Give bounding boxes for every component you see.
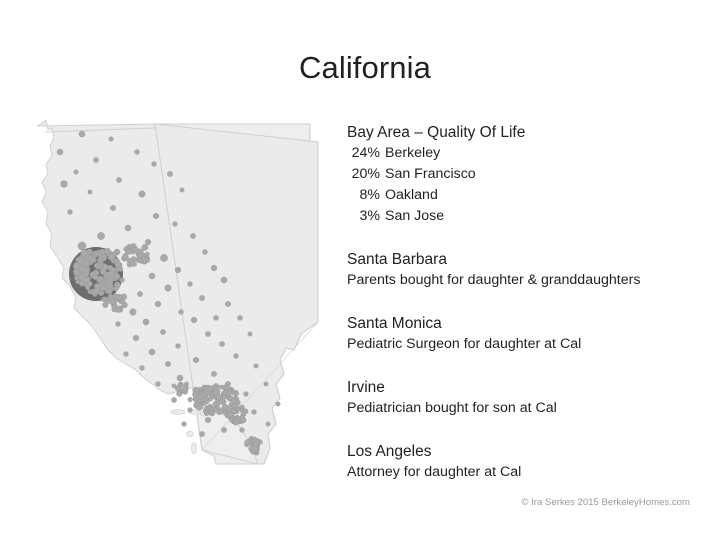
map-dot bbox=[253, 441, 259, 447]
map-dot bbox=[203, 409, 208, 414]
map-dot bbox=[114, 286, 119, 291]
map-dot bbox=[160, 329, 165, 334]
map-dot bbox=[145, 239, 151, 245]
map-dot bbox=[93, 288, 99, 294]
section-heading: Santa Barbara bbox=[347, 249, 695, 270]
map-dot bbox=[173, 222, 178, 227]
section-note: Parents bought for daughter & granddaugh… bbox=[347, 270, 695, 291]
section-heading: Bay Area – Quality Of Life bbox=[347, 122, 695, 143]
map-dot bbox=[235, 406, 240, 411]
map-dot bbox=[199, 431, 204, 436]
map-dot bbox=[245, 439, 251, 445]
map-dot bbox=[199, 295, 204, 300]
content-section: Santa BarbaraParents bought for daughter… bbox=[347, 249, 695, 291]
percent-value: 3% bbox=[347, 206, 380, 227]
percent-city-name: San Francisco bbox=[380, 166, 476, 182]
map-dot bbox=[221, 277, 227, 283]
map-dot bbox=[155, 301, 161, 307]
map-dot bbox=[190, 233, 195, 238]
map-dot bbox=[188, 397, 193, 402]
percent-row: 8%Oakland bbox=[347, 185, 695, 206]
map-dot bbox=[130, 309, 136, 315]
map-dot bbox=[104, 248, 110, 254]
map-dot bbox=[266, 422, 270, 426]
map-dot bbox=[124, 352, 129, 357]
page-title: California bbox=[299, 50, 431, 86]
map-dot bbox=[156, 382, 161, 387]
content-column: Bay Area – Quality Of Life24%Berkeley20%… bbox=[347, 122, 695, 483]
map-dot bbox=[145, 252, 149, 256]
map-dot bbox=[160, 254, 167, 261]
section-heading: Irvine bbox=[347, 377, 695, 398]
map-dot bbox=[68, 210, 73, 215]
map-dot bbox=[165, 285, 171, 291]
slide-canvas: California bbox=[0, 0, 720, 540]
map-dot bbox=[140, 366, 145, 371]
percent-city-name: Berkeley bbox=[380, 145, 440, 161]
map-dot bbox=[73, 269, 79, 275]
map-dot bbox=[102, 264, 108, 270]
map-dot bbox=[78, 242, 86, 250]
map-dot bbox=[203, 385, 208, 390]
map-dot bbox=[98, 259, 102, 263]
map-dot bbox=[83, 268, 88, 273]
map-dot bbox=[117, 295, 123, 301]
map-dot bbox=[57, 149, 63, 155]
map-dot bbox=[109, 299, 114, 304]
map-dot bbox=[248, 332, 252, 336]
content-section: IrvinePediatrician bought for son at Cal bbox=[347, 377, 695, 419]
map-dot bbox=[93, 275, 98, 280]
map-dot bbox=[93, 157, 98, 162]
map-dot bbox=[127, 244, 132, 249]
percent-row: 20%San Francisco bbox=[347, 164, 695, 185]
map-dot bbox=[108, 271, 115, 278]
map-dot bbox=[133, 335, 139, 341]
map-dot bbox=[86, 255, 92, 261]
map-dot bbox=[219, 341, 224, 346]
map-dot bbox=[110, 205, 115, 210]
map-dot bbox=[220, 399, 226, 405]
map-dot bbox=[203, 393, 207, 397]
section-heading: Los Angeles bbox=[347, 441, 695, 462]
map-dot bbox=[240, 428, 245, 433]
map-dot bbox=[196, 404, 203, 411]
map-dot bbox=[227, 406, 233, 412]
map-dot bbox=[61, 181, 68, 188]
map-dot bbox=[209, 411, 215, 417]
map-dot bbox=[101, 285, 106, 290]
map-dot bbox=[92, 254, 96, 258]
percent-row: 3%San Jose bbox=[347, 206, 695, 227]
map-dot bbox=[176, 344, 181, 349]
map-dot bbox=[183, 386, 189, 392]
map-dot bbox=[115, 261, 121, 267]
map-dot bbox=[232, 418, 237, 423]
map-dot bbox=[97, 232, 104, 239]
map-dot bbox=[78, 257, 85, 264]
section-note: Pediatric Surgeon for daughter at Cal bbox=[347, 334, 695, 355]
percent-row: 24%Berkeley bbox=[347, 143, 695, 164]
map-dot bbox=[98, 276, 104, 282]
map-dot bbox=[97, 265, 101, 269]
map-dot bbox=[202, 402, 206, 406]
map-dot bbox=[231, 398, 236, 403]
map-dot bbox=[74, 170, 78, 174]
map-dot bbox=[179, 383, 183, 387]
map-dot bbox=[152, 162, 157, 167]
map-dot bbox=[73, 263, 80, 270]
map-dot bbox=[99, 254, 103, 258]
map-dot bbox=[143, 319, 149, 325]
map-dot bbox=[127, 258, 132, 263]
percent-city-name: Oakland bbox=[380, 187, 438, 203]
map-dot bbox=[116, 177, 121, 182]
map-dot bbox=[225, 301, 230, 306]
map-dot bbox=[137, 291, 142, 296]
map-dot bbox=[227, 391, 232, 396]
map-dot bbox=[84, 277, 90, 283]
map-dot bbox=[205, 417, 211, 423]
map-dot bbox=[211, 265, 217, 271]
content-section: Los AngelesAttorney for daughter at Cal bbox=[347, 441, 695, 483]
map-dot bbox=[228, 412, 233, 417]
map-dot bbox=[240, 417, 246, 423]
california-map-svg bbox=[18, 112, 320, 477]
map-dot bbox=[182, 422, 187, 427]
map-dot bbox=[179, 310, 184, 315]
map-dot bbox=[254, 364, 258, 368]
map-dot bbox=[171, 397, 176, 402]
map-dot bbox=[276, 402, 280, 406]
map-dot bbox=[116, 322, 121, 327]
map-dot bbox=[211, 371, 216, 376]
map-dot bbox=[108, 254, 115, 261]
map-dot bbox=[104, 297, 108, 301]
map-dot bbox=[86, 286, 90, 290]
map-dot bbox=[214, 316, 219, 321]
map-dot bbox=[243, 409, 248, 414]
percent-city-name: San Jose bbox=[380, 208, 444, 224]
map-dot bbox=[109, 137, 113, 141]
percent-value: 8% bbox=[347, 185, 380, 206]
map-dot bbox=[106, 280, 110, 284]
map-dot bbox=[193, 357, 199, 363]
map-dot bbox=[240, 405, 244, 409]
map-dot bbox=[238, 316, 243, 321]
map-dot bbox=[139, 191, 145, 197]
map-dot bbox=[120, 278, 125, 283]
california-map-figure bbox=[18, 112, 320, 477]
map-dot bbox=[177, 391, 182, 396]
map-dot bbox=[175, 267, 181, 273]
map-dot bbox=[177, 375, 183, 381]
map-dot bbox=[153, 213, 159, 219]
map-dot bbox=[135, 150, 140, 155]
map-dot bbox=[188, 282, 193, 287]
map-dot bbox=[79, 131, 85, 137]
map-dot bbox=[191, 317, 197, 323]
map-dot bbox=[232, 390, 238, 396]
section-heading: Santa Monica bbox=[347, 313, 695, 334]
map-dot bbox=[221, 427, 226, 432]
map-dot bbox=[138, 253, 143, 258]
map-dot bbox=[125, 249, 130, 254]
map-dot bbox=[165, 361, 170, 366]
map-dot bbox=[219, 385, 223, 389]
map-dot bbox=[244, 392, 249, 397]
map-dot bbox=[125, 225, 131, 231]
map-dot bbox=[180, 188, 184, 192]
content-section: Bay Area – Quality Of Life24%Berkeley20%… bbox=[347, 122, 695, 227]
map-dot bbox=[188, 408, 193, 413]
map-dot bbox=[149, 273, 155, 279]
content-section: Santa MonicaPediatric Surgeon for daught… bbox=[347, 313, 695, 355]
footer-credit: © Ira Serkes 2015 BerkeleyHomes.com bbox=[0, 497, 690, 508]
percent-value: 24% bbox=[347, 143, 380, 164]
percent-value: 20% bbox=[347, 164, 380, 185]
section-note: Attorney for daughter at Cal bbox=[347, 462, 695, 483]
map-dot bbox=[149, 349, 155, 355]
map-dot bbox=[203, 250, 208, 255]
map-dot bbox=[116, 308, 121, 313]
map-dot bbox=[207, 406, 211, 410]
map-dot bbox=[264, 382, 268, 386]
map-dot bbox=[205, 331, 210, 336]
map-dot bbox=[167, 171, 172, 176]
map-dot bbox=[103, 302, 108, 307]
map-dot bbox=[88, 190, 92, 194]
map-dot bbox=[252, 410, 257, 415]
map-dot bbox=[234, 354, 239, 359]
map-dot bbox=[209, 396, 213, 400]
section-note: Pediatrician bought for son at Cal bbox=[347, 398, 695, 419]
map-dot bbox=[115, 268, 119, 272]
